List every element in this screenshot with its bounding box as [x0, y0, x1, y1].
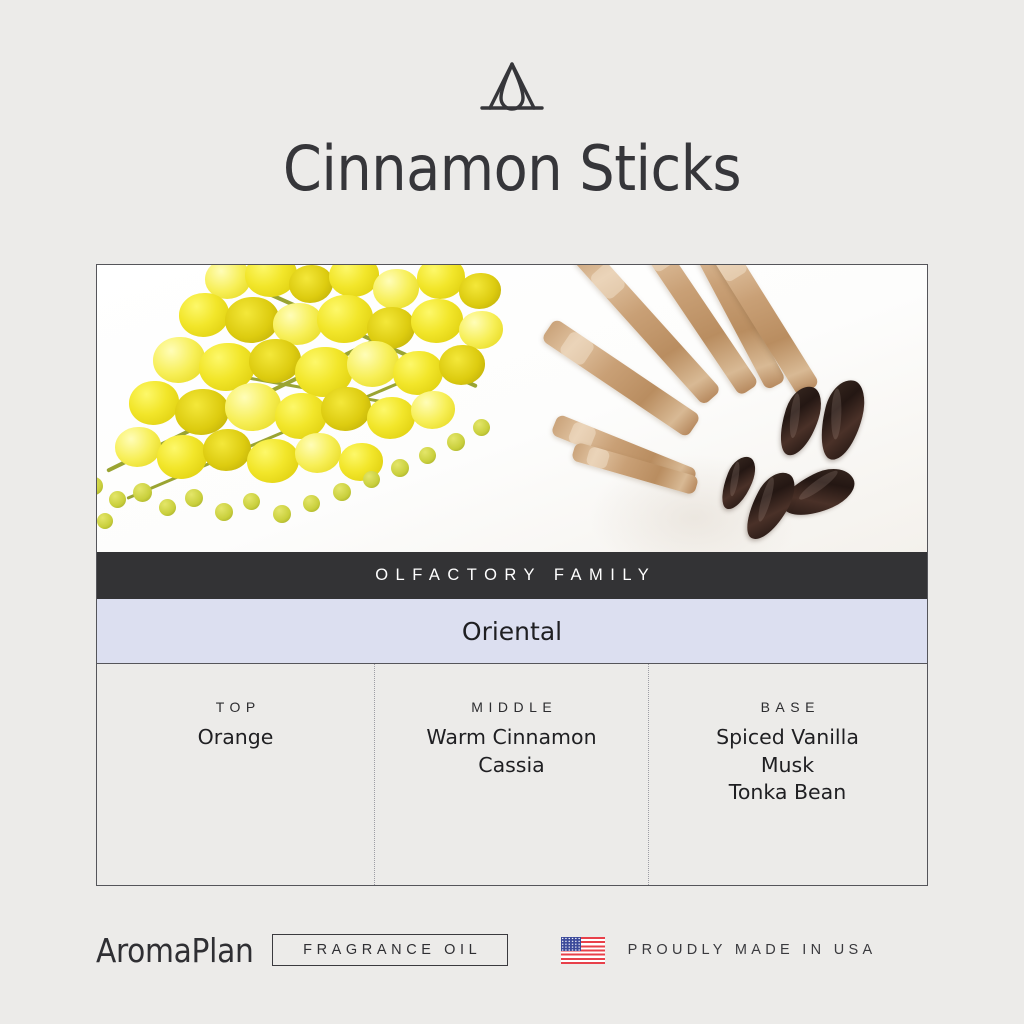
fragrance-notes-section: TOP Orange MIDDLE Warm Cinnamon Cassia B… — [97, 664, 927, 885]
product-type-label: FRAGRANCE OIL — [299, 942, 482, 958]
note-item: Tonka Bean — [649, 779, 926, 807]
made-in-label: PROUDLY MADE IN USA — [623, 942, 876, 958]
fragrance-profile-card: OLFACTORY FAMILY Oriental TOP Orange MID… — [96, 264, 928, 886]
olfactory-family-value: Oriental — [462, 617, 562, 646]
page-header: Cinnamon Sticks — [0, 0, 1024, 264]
notes-heading-top: TOP — [97, 699, 374, 715]
page-title: Cinnamon Sticks — [283, 138, 741, 200]
notes-column-top: TOP Orange — [97, 664, 374, 885]
note-item: Musk — [649, 752, 926, 780]
olfactory-family-heading: OLFACTORY FAMILY — [368, 566, 657, 585]
brand-name: AromaPlan — [96, 931, 254, 970]
olfactory-family-bar: OLFACTORY FAMILY — [97, 552, 927, 599]
note-item: Spiced Vanilla — [649, 724, 926, 752]
olfactory-family-value-row: Oriental — [97, 599, 927, 664]
product-type-badge: FRAGRANCE OIL — [272, 934, 509, 966]
notes-heading-base: BASE — [649, 699, 926, 715]
page-footer: AromaPlan FRAGRANCE OIL PROUDLY MADE IN … — [96, 921, 928, 979]
notes-heading-middle: MIDDLE — [375, 699, 648, 715]
aromaplan-droplet-monogram-icon — [476, 58, 548, 120]
product-photo — [97, 265, 927, 552]
flag-canton — [561, 937, 581, 952]
note-item: Warm Cinnamon — [375, 724, 648, 752]
cassia-flowers-image — [97, 265, 547, 541]
notes-column-base: BASE Spiced Vanilla Musk Tonka Bean — [649, 664, 926, 885]
notes-column-middle: MIDDLE Warm Cinnamon Cassia — [374, 664, 649, 885]
note-item: Orange — [97, 724, 374, 752]
usa-flag-icon — [561, 937, 605, 964]
made-in-usa-badge: PROUDLY MADE IN USA — [561, 937, 876, 964]
note-item: Cassia — [375, 752, 648, 780]
tonka-beans-image — [769, 377, 927, 547]
